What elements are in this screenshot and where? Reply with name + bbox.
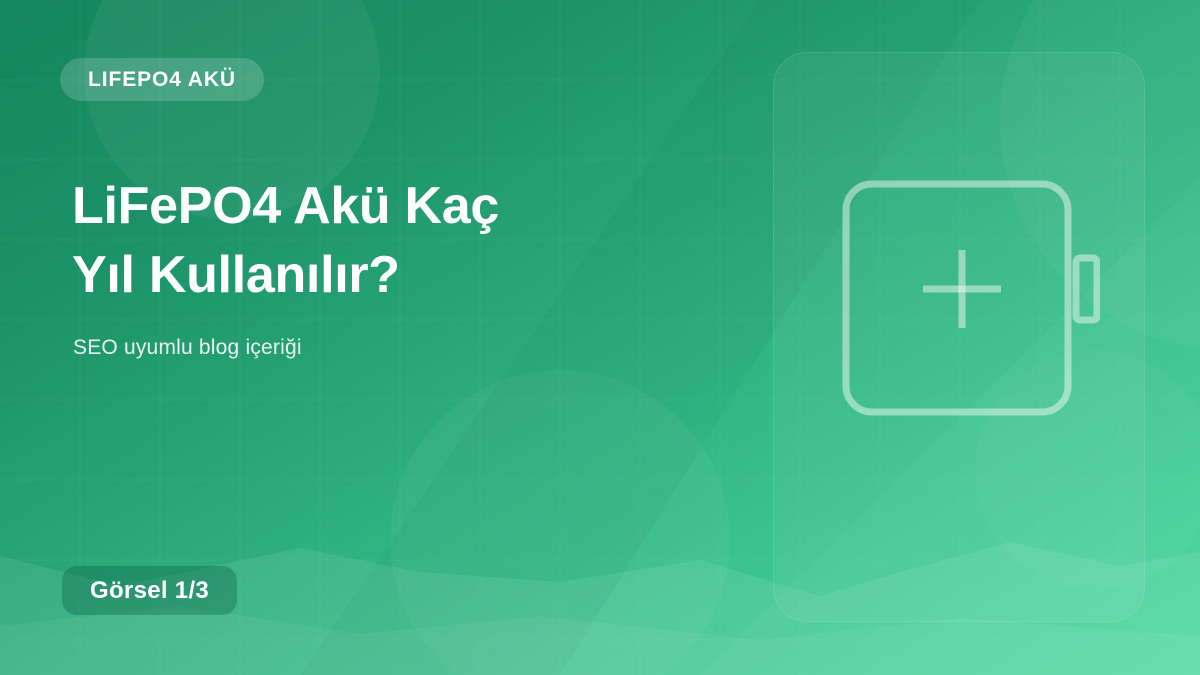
image-counter-label: Görsel 1/3 (90, 577, 209, 605)
headline-line-1: LiFePO4 Akü Kaç (72, 177, 499, 235)
category-badge-label: LIFEPO4 AKÜ (88, 68, 236, 92)
battery-terminal (1076, 258, 1097, 320)
battery-plus-icon (840, 178, 1100, 418)
page-title: LiFePO4 Akü Kaç Yıl Kullanılır? (72, 172, 692, 309)
battery-body (846, 184, 1068, 412)
image-counter-badge[interactable]: Görsel 1/3 (62, 566, 237, 615)
plus-sign (923, 250, 1001, 328)
slide-canvas: LIFEPO4 AKÜ LiFePO4 Akü Kaç Yıl Kullanıl… (0, 0, 1200, 675)
headline-line-2: Yıl Kullanılır? (72, 246, 400, 304)
circle-center (390, 370, 730, 675)
subtitle: SEO uyumlu blog içeriği (73, 336, 302, 360)
category-badge[interactable]: LIFEPO4 AKÜ (60, 58, 264, 101)
